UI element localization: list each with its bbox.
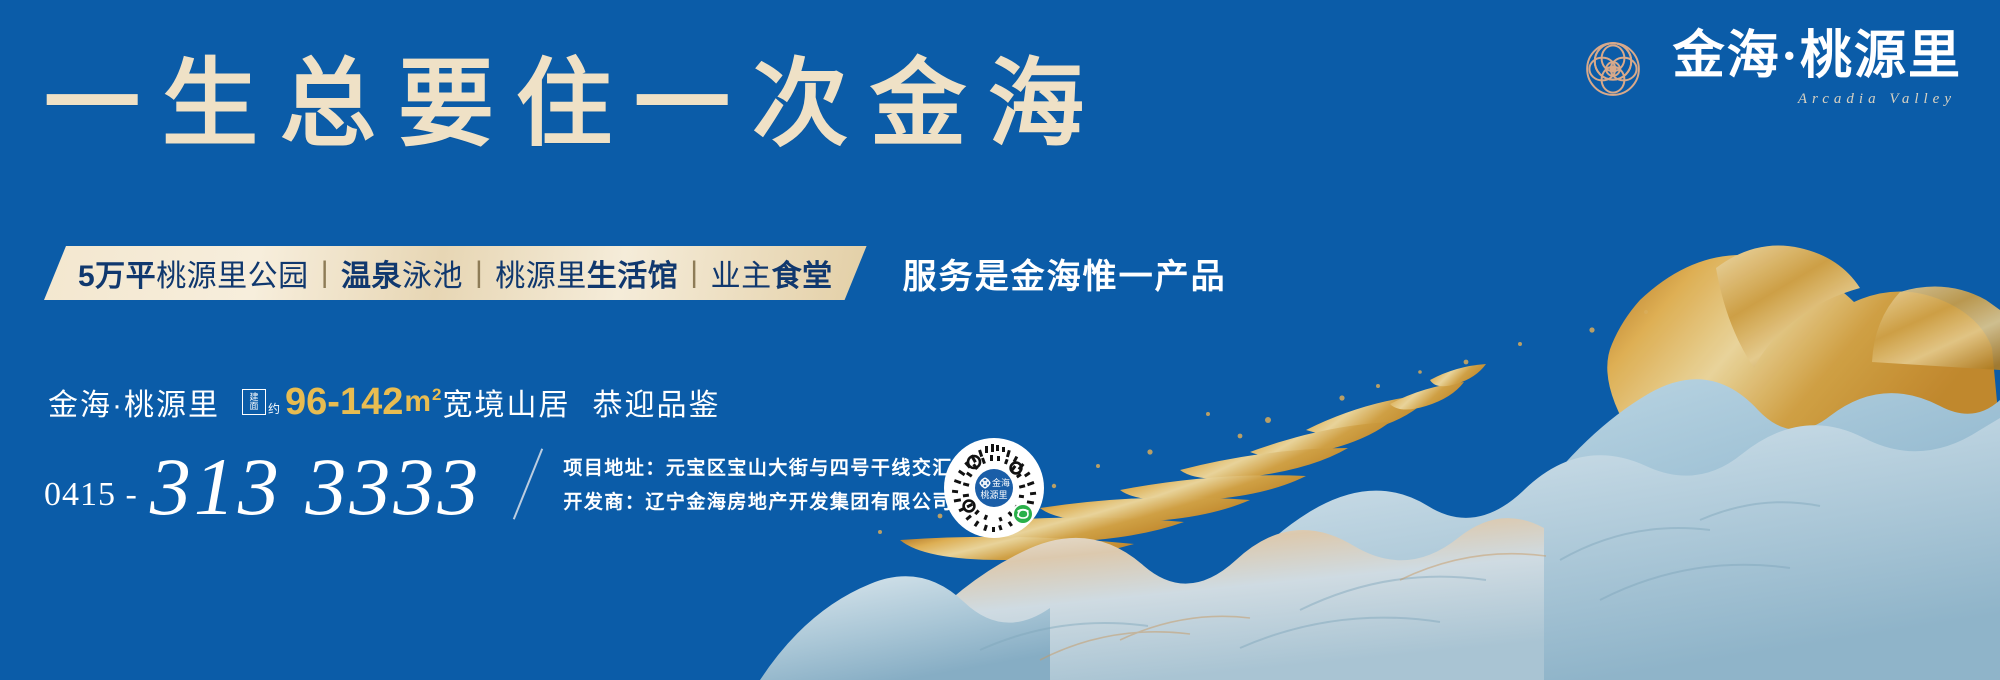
- wechat-mini-program-qr[interactable]: 金海 桃源里: [944, 438, 1044, 538]
- developer-name: 开发商：辽宁金海房地产开发集团有限公司: [563, 487, 973, 514]
- page-title: 一生总要住一次金海: [44, 48, 1106, 161]
- logo-subtitle: Arcadia Valley: [1798, 91, 1956, 108]
- built-area-badge: 建 面 约: [242, 389, 281, 415]
- area-range: 96-142: [285, 381, 403, 424]
- qr-center-text-2: 桃源里: [980, 489, 1007, 500]
- spec-descriptor: 宽境山居: [443, 380, 571, 424]
- contact-row: 0415 - 313 3333 项目地址：元宝区宝山大街与四号干线交汇处 开发商…: [44, 446, 973, 528]
- brand-logo: 金海·桃源里 Arcadia Valley: [1575, 30, 1962, 108]
- info-block: 项目地址：元宝区宝山大街与四号干线交汇处 开发商：辽宁金海房地产开发集团有限公司: [563, 453, 973, 514]
- phone-number[interactable]: 313 3333: [150, 446, 482, 528]
- features-row: 5万平桃源里公园 | 温泉泳池 | 桃源里生活馆 | 业主食堂 服务是金海惟一产…: [44, 246, 1227, 300]
- mountain-main: [1180, 418, 2000, 680]
- logo-title: 金海·桃源里: [1673, 30, 1962, 85]
- qr-center-disc: [975, 469, 1013, 507]
- spec-invitation: 恭迎品鉴: [593, 380, 721, 424]
- project-address: 项目地址：元宝区宝山大街与四号干线交汇处: [563, 453, 973, 480]
- feature-item-1: 5万平桃源里公园: [78, 251, 309, 295]
- badge-line-2: 面: [249, 402, 258, 411]
- slash-divider: [513, 448, 543, 519]
- feature-item-4: 业主食堂: [711, 251, 833, 295]
- area-unit: m2: [404, 385, 442, 419]
- mountain-back: [1520, 379, 2000, 680]
- feature-separator: |: [690, 256, 698, 290]
- feature-item-3: 桃源里生活馆: [495, 251, 678, 295]
- mountain-small-left: [760, 576, 1050, 680]
- feature-item-2: 温泉泳池: [341, 251, 463, 295]
- wechat-badge-icon: [1012, 503, 1034, 525]
- features-ribbon: 5万平桃源里公园 | 温泉泳池 | 桃源里生活馆 | 业主食堂: [44, 246, 867, 300]
- spec-line: 金海·桃源里 建 面 约 96-142 m2 宽境山居 恭迎品鉴: [48, 380, 721, 424]
- ink-striations: [980, 502, 1820, 650]
- mountain-front: [880, 518, 1544, 680]
- advertisement-banner: 金海·桃源里 Arcadia Valley 一生总要住一次金海 5万平桃源里公园…: [0, 0, 2000, 680]
- spec-project-name: 金海·桃源里: [48, 380, 220, 424]
- flower-emblem-icon: [1575, 31, 1651, 107]
- tagline: 服务是金海惟一产品: [903, 249, 1227, 298]
- feature-separator: |: [321, 256, 329, 290]
- qr-center-text-1: 金海: [992, 477, 1010, 488]
- badge-approx: 约: [268, 403, 281, 415]
- feature-separator: |: [475, 256, 483, 290]
- phone-area-code: 0415 -: [44, 476, 138, 514]
